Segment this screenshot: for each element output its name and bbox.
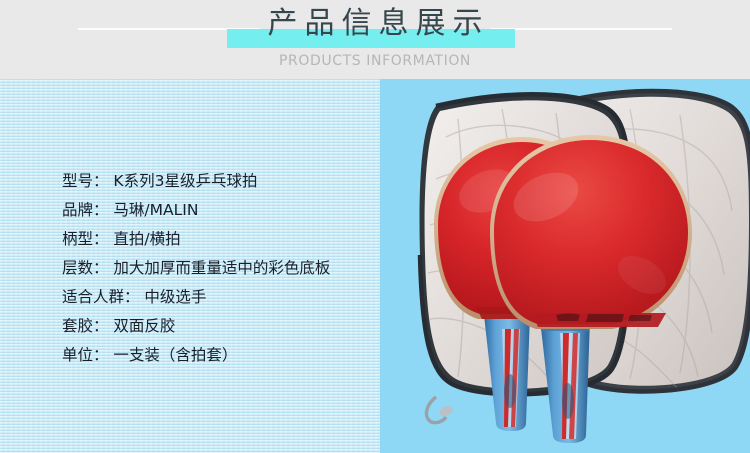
spec-row-brand: 品牌： 马琳/MALIN: [62, 196, 372, 225]
header-banner: 产品信息展示 PRODUCTS INFORMATION: [0, 0, 750, 79]
specification-list: 型号： K系列3星级乒乓球拍 品牌： 马琳/MALIN 柄型： 直拍/横拍 层数…: [62, 167, 372, 370]
spec-row-unit: 单位： 一支装（含拍套）: [62, 341, 372, 370]
spec-row-grip-type: 柄型： 直拍/横拍: [62, 225, 372, 254]
spec-row-audience: 适合人群： 中级选手: [62, 283, 372, 312]
page-title-cn: 产品信息展示: [0, 7, 750, 41]
page-subtitle-en: PRODUCTS INFORMATION: [0, 52, 750, 70]
product-photo-illustration: [380, 79, 750, 453]
spec-row-model: 型号： K系列3星级乒乓球拍: [62, 167, 372, 196]
spec-row-rubber: 套胶： 双面反胶: [62, 312, 372, 341]
product-photo: [380, 79, 750, 453]
product-info-banner: 产品信息展示 PRODUCTS INFORMATION 型号： K系列3星级乒乓…: [0, 0, 750, 453]
spec-row-plies: 层数： 加大加厚而重量适中的彩色底板: [62, 254, 372, 283]
content-panel: 型号： K系列3星级乒乓球拍 品牌： 马琳/MALIN 柄型： 直拍/横拍 层数…: [0, 79, 750, 453]
